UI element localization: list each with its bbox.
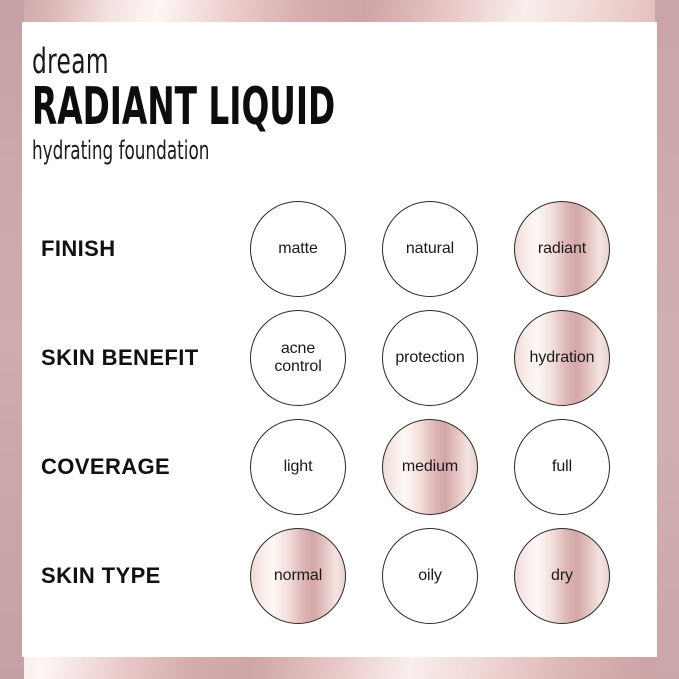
attribute-row-skin-benefit: SKIN BENEFITacne controlprotectionhydrat… xyxy=(22,303,657,412)
option-circle-light[interactable]: light xyxy=(250,419,346,515)
product-descriptor-hydrating-foundation: hydrating foundation xyxy=(32,138,320,164)
option-label: natural xyxy=(403,240,457,258)
option-label: normal xyxy=(271,567,325,585)
attribute-row-label: SKIN TYPE xyxy=(41,563,161,589)
option-label: oily xyxy=(415,567,445,585)
option-label: dry xyxy=(548,567,576,585)
attribute-row-label: SKIN BENEFIT xyxy=(41,345,199,371)
attribute-row-coverage: COVERAGElightmediumfull xyxy=(22,412,657,521)
option-label: light xyxy=(281,458,316,476)
frame-edge-left xyxy=(0,0,24,679)
option-label: protection xyxy=(392,349,467,367)
frame-edge-right xyxy=(655,0,679,679)
option-label: acne control xyxy=(271,340,324,376)
option-circle-medium[interactable]: medium xyxy=(382,419,478,515)
attribute-row-skin-type: SKIN TYPEnormaloilydry xyxy=(22,521,657,630)
product-name-radiant-liquid: RADIANT LIQUID xyxy=(32,81,312,133)
option-circle-matte[interactable]: matte xyxy=(250,201,346,297)
option-circle-hydration[interactable]: hydration xyxy=(514,310,610,406)
brand-name-dream: dream xyxy=(32,46,328,79)
option-label: radiant xyxy=(535,240,589,258)
option-label: matte xyxy=(275,240,321,258)
option-circle-natural[interactable]: natural xyxy=(382,201,478,297)
attribute-row-label: COVERAGE xyxy=(41,454,170,480)
attribute-matrix: FINISHmattenaturalradiantSKIN BENEFITacn… xyxy=(22,194,657,630)
attribute-row-label: FINISH xyxy=(41,236,116,262)
title-block: dream RADIANT LIQUID hydrating foundatio… xyxy=(32,46,432,164)
option-circle-radiant[interactable]: radiant xyxy=(514,201,610,297)
option-circle-acne-control[interactable]: acne control xyxy=(250,310,346,406)
option-circle-normal[interactable]: normal xyxy=(250,528,346,624)
option-circle-dry[interactable]: dry xyxy=(514,528,610,624)
option-label: full xyxy=(549,458,575,476)
card-canvas: dream RADIANT LIQUID hydrating foundatio… xyxy=(22,22,657,657)
product-info-card: dream RADIANT LIQUID hydrating foundatio… xyxy=(0,0,679,679)
attribute-row-finish: FINISHmattenaturalradiant xyxy=(22,194,657,303)
option-circle-oily[interactable]: oily xyxy=(382,528,478,624)
option-label: medium xyxy=(399,458,461,476)
option-label: hydration xyxy=(527,349,598,367)
option-circle-protection[interactable]: protection xyxy=(382,310,478,406)
option-circle-full[interactable]: full xyxy=(514,419,610,515)
